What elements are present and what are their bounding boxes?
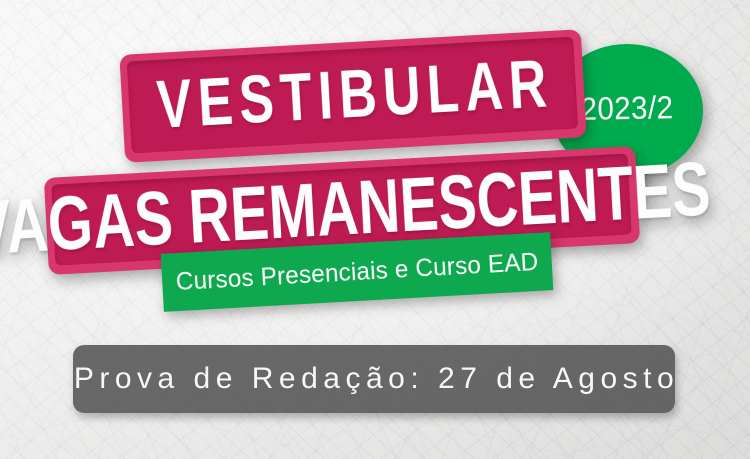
course-types-text: Cursos Presenciais e Curso EAD	[175, 247, 539, 296]
exam-notice-bar: Prova de Redação: 27 de Agosto	[73, 345, 675, 413]
headline-plate-inner: VESTIBULAR	[127, 37, 578, 154]
vestibular-promo-banner: 2023/2 VESTIBULAR VAGAS REMANESCENTES Cu…	[0, 0, 750, 459]
exam-notice-text: Prova de Redação: 27 de Agosto	[69, 362, 679, 396]
headline-text: VESTIBULAR	[150, 50, 555, 140]
